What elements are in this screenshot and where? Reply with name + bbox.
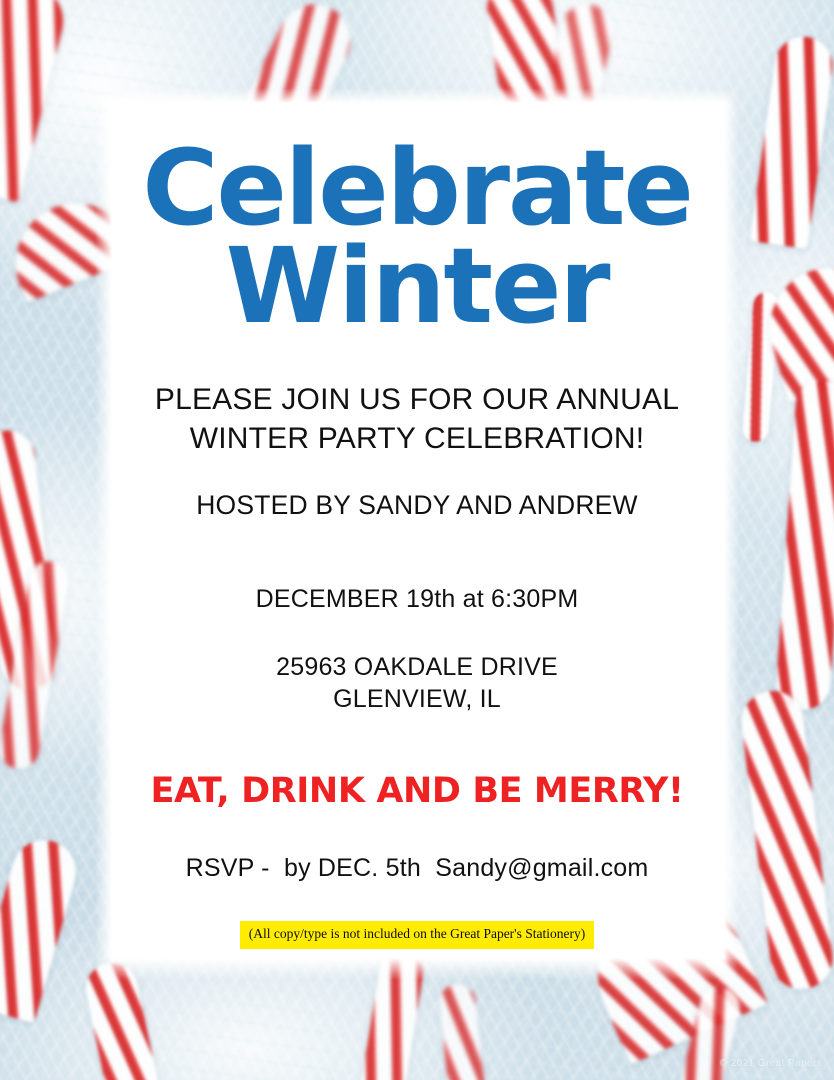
invitation-page: Celebrate Winter PLEASE JOIN US FOR OUR … [0, 0, 834, 1080]
rsvp-line: RSVP - by DEC. 5th Sandy@gmail.com [117, 854, 717, 883]
event-address: 25963 OAKDALE DRIVE GLENVIEW, IL [117, 651, 717, 715]
copyright-watermark: © 2021 Great Papers [720, 1058, 822, 1069]
title-block: Celebrate Winter [117, 88, 717, 336]
disclaimer-row: (All copy/type is not included on the Gr… [95, 921, 739, 949]
headline-line-2: WINTER PARTY CELEBRATION! [117, 419, 717, 459]
headline-block: PLEASE JOIN US FOR OUR ANNUAL WINTER PAR… [117, 380, 717, 459]
address-line-1: 25963 OAKDALE DRIVE [117, 651, 717, 683]
event-datetime: DECEMBER 19th at 6:30PM [117, 585, 717, 614]
address-line-2: GLENVIEW, IL [117, 683, 717, 715]
invitation-card: Celebrate Winter PLEASE JOIN US FOR OUR … [95, 88, 739, 980]
title-line-1: Celebrate [117, 140, 717, 238]
headline-line-1: PLEASE JOIN US FOR OUR ANNUAL [117, 380, 717, 420]
hosted-by-line: HOSTED BY SANDY AND ANDREW [117, 490, 717, 521]
invitation-card-content: Celebrate Winter PLEASE JOIN US FOR OUR … [95, 88, 739, 980]
tagline: EAT, DRINK AND BE MERRY! [117, 771, 717, 811]
title-line-2: Winter [117, 238, 717, 336]
disclaimer-highlight: (All copy/type is not included on the Gr… [240, 921, 594, 949]
